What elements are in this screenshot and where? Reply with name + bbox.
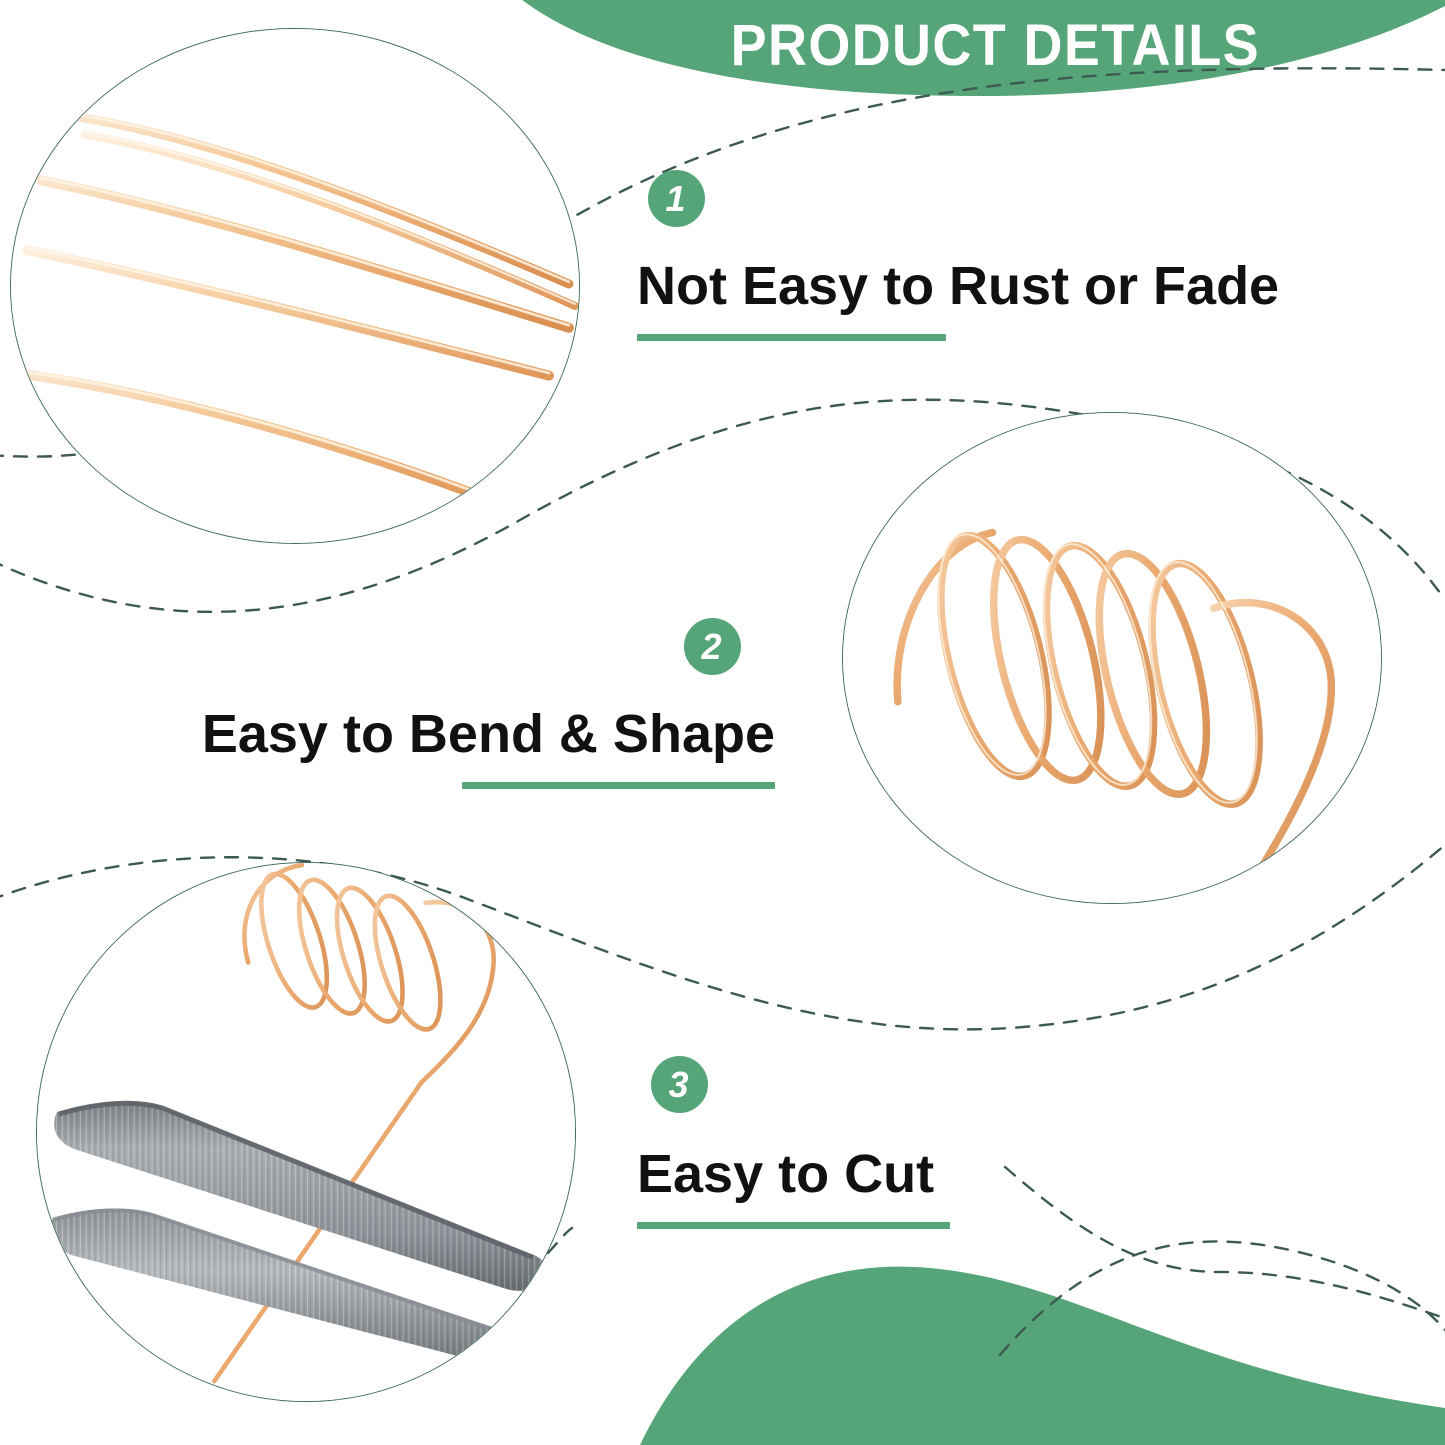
- feature-block-3: 3 Easy to Cut: [637, 1056, 950, 1229]
- feature-title-1: Not Easy to Rust or Fade: [637, 258, 1279, 315]
- feature-title-2: Easy to Bend & Shape: [202, 706, 775, 763]
- feature-block-2: 2 Easy to Bend & Shape: [250, 618, 775, 789]
- wire-coil-illustration: [843, 413, 1381, 903]
- product-image-wire-coil: [842, 412, 1382, 904]
- feature-title-3: Easy to Cut: [637, 1146, 950, 1203]
- feature-underline-3: [637, 1222, 950, 1229]
- wire-strands-illustration: [11, 29, 579, 543]
- feature-underline-1: [637, 334, 946, 341]
- page-title: PRODUCT DETAILS: [665, 8, 1260, 82]
- product-image-cutting-wire: [36, 862, 576, 1402]
- product-image-wire-strands: [10, 28, 580, 544]
- scissors-cut-illustration: [37, 863, 575, 1401]
- infographic-canvas: PRODUCT DETAILS: [0, 0, 1445, 1445]
- bottom-dashed-curve-2: [1000, 1241, 1445, 1355]
- bottom-green-wave: [640, 1267, 1445, 1445]
- feature-number-badge-2: 2: [684, 618, 741, 675]
- feature-underline-2: [462, 782, 775, 789]
- feature-number-badge-1: 1: [648, 170, 705, 227]
- feature-number-badge-3: 3: [651, 1056, 708, 1113]
- bottom-dashed-curve: [1005, 1167, 1445, 1380]
- feature-block-1: 1 Not Easy to Rust or Fade: [637, 170, 1279, 341]
